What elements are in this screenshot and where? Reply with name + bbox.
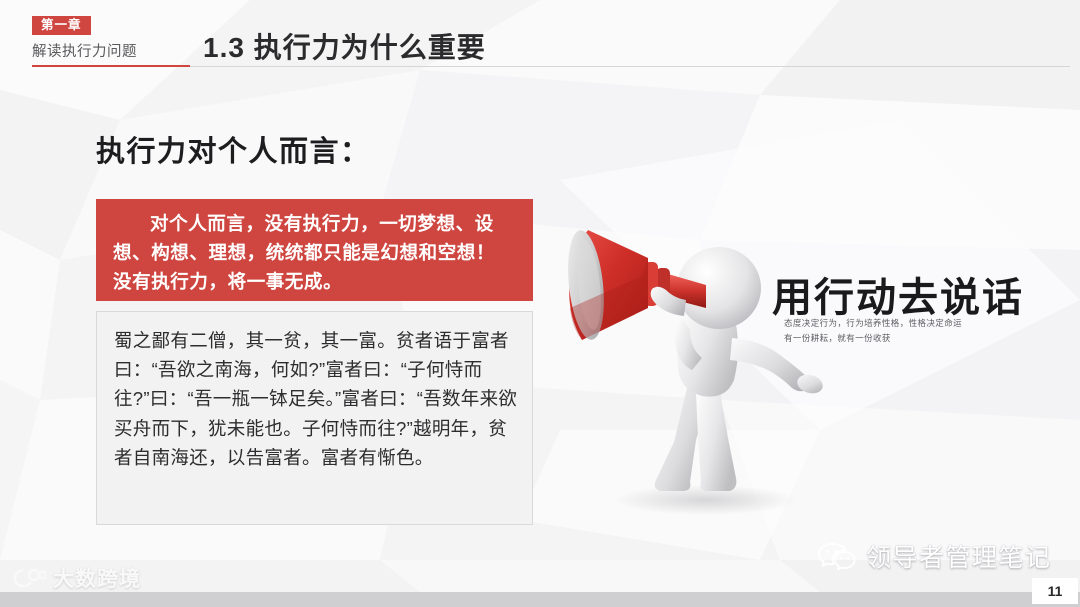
chapter-subtitle: 解读执行力问题 (32, 40, 137, 61)
callout-text: 对个人而言，没有执行力，一切梦想、设想、构想、理想，统统都只能是幻想和空想！没有… (113, 210, 513, 297)
watermark: 大数跨境 (12, 563, 141, 593)
illustration-title: 用行动去说话 (772, 265, 1024, 323)
story-text: 蜀之鄙有二僧，其一贫，其一富。贫者语于富者曰：“吾欲之南海，何如?”富者曰：“子… (114, 326, 518, 472)
page-title: 1.3 执行力为什么重要 (203, 26, 486, 66)
illustration-subtitle: 态度决定行为，行为培养性格，性格决定命运 有一份耕耘，就有一份收获 (784, 316, 962, 346)
slide-header: 第一章 解读执行力问题 1.3 执行力为什么重要 (0, 0, 1080, 72)
shuju-kuajing-logo-icon (12, 567, 46, 589)
chapter-badge: 第一章 (32, 16, 91, 35)
slide-canvas: 第一章 解读执行力问题 1.3 执行力为什么重要 执行力对个人而言： 对个人而言… (0, 0, 1080, 607)
watermark-label: 大数跨境 (53, 563, 141, 593)
page-number: 11 (1032, 578, 1078, 604)
story-box: 蜀之鄙有二僧，其一贫，其一富。贫者语于富者曰：“吾欲之南海，何如?”富者曰：“子… (96, 311, 533, 525)
brand-label: 领导者管理笔记 (866, 538, 1052, 574)
wechat-icon (818, 541, 856, 571)
illustration-subtitle-line2: 有一份耕耘，就有一份收获 (784, 331, 962, 346)
illustration-subtitle-line1: 态度决定行为，行为培养性格，性格决定命运 (784, 316, 962, 331)
megaphone-figure-icon (556, 188, 856, 518)
footer-bar (0, 592, 1080, 607)
callout-box: 对个人而言，没有执行力，一切梦想、设想、构想、理想，统统都只能是幻想和空想！没有… (96, 199, 533, 301)
header-rule-accent (32, 65, 190, 67)
section-heading: 执行力对个人而言： (96, 128, 371, 170)
brand-credit: 领导者管理笔记 (818, 538, 1052, 574)
